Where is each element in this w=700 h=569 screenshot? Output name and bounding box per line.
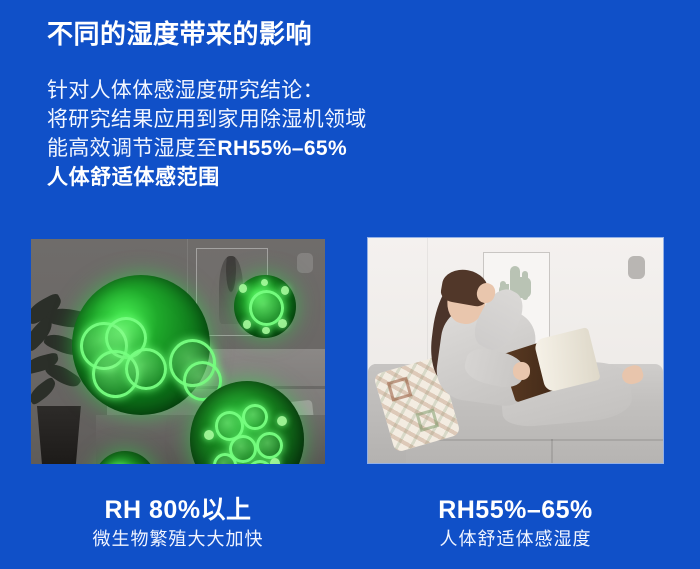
caption-comfort-humidity: RH55%–65% 人体舒适体感湿度	[368, 494, 663, 552]
photo-comfort-humidity	[368, 238, 663, 463]
light-room-scene	[368, 238, 663, 463]
body-line-3-text: 能高效调节湿度至	[47, 137, 217, 160]
wall-speaker-icon	[297, 253, 313, 273]
pillow-pattern-square	[386, 377, 412, 402]
cactus-arm-right	[522, 271, 528, 299]
dark-room-scene	[31, 239, 325, 464]
caption-title: RH55%–65%	[368, 494, 663, 526]
body-line-2: 将研究结果应用到家用除湿机领域	[47, 105, 367, 134]
body-line-1: 针对人体体感湿度研究结论：	[47, 76, 367, 105]
body-line-3-highlight: RH55%–65%	[217, 137, 347, 160]
microbe-blob	[234, 275, 296, 338]
wall-speaker-icon	[628, 256, 645, 279]
sofa-cushion-split	[551, 439, 553, 463]
woman-hand-on-book	[513, 362, 531, 380]
pillow-pattern-square	[415, 408, 439, 432]
caption-title: RH 80%以上	[31, 494, 325, 526]
caption-subtitle: 人体舒适体感湿度	[368, 526, 663, 552]
body-line-4: 人体舒适体感范围	[47, 163, 367, 192]
page-title: 不同的湿度带来的影响	[47, 18, 312, 51]
microbe-blob	[72, 275, 210, 415]
caption-subtitle: 微生物繁殖大大加快	[31, 526, 325, 552]
body-line-3: 能高效调节湿度至RH55%–65%	[47, 134, 367, 163]
caption-high-humidity: RH 80%以上 微生物繁殖大大加快	[31, 494, 325, 552]
photo-high-humidity	[31, 239, 325, 464]
body-copy: 针对人体体感湿度研究结论： 将研究结果应用到家用除湿机领域 能高效调节湿度至RH…	[47, 76, 367, 192]
humidity-impact-poster: 不同的湿度带来的影响 针对人体体感湿度研究结论： 将研究结果应用到家用除湿机领域…	[0, 0, 700, 569]
